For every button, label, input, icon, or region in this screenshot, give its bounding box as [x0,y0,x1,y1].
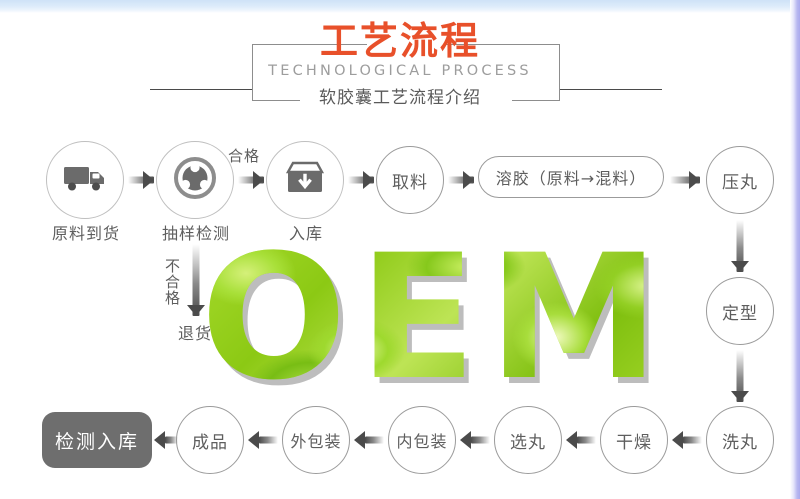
node-material-picking[interactable]: 取料 [376,146,444,214]
page-subtitle-cn: 软胶囊工艺流程介绍 [0,86,800,110]
process-flow-infographic: 工艺流程 TECHNOLOGICAL PROCESS 软胶囊工艺流程介绍 OEM… [0,0,800,499]
arrow-head [248,431,259,449]
arrow-pressing-to-shaping [731,220,749,272]
node-warehouse-in[interactable] [266,141,344,219]
node-pill-pressing[interactable]: 压丸 [706,146,774,214]
arrow-head [460,431,471,449]
node-material-picking-label: 取料 [392,168,428,193]
label-raw-material-arrival: 原料到货 [40,220,132,244]
page-title: 工艺流程 [0,21,800,61]
label-return-goods: 退货 [165,320,225,344]
header: 工艺流程 TECHNOLOGICAL PROCESS 软胶囊工艺流程介绍 [0,18,800,110]
arrow-tail [365,437,384,444]
arrow-tail [165,437,178,444]
page-subtitle-en: TECHNOLOGICAL PROCESS [0,62,800,80]
node-outer-packaging-label: 外包装 [290,428,341,452]
inbox-down-icon [285,160,325,201]
node-shaping-label: 定型 [722,299,758,324]
arrow-tail [471,437,490,444]
oem-watermark-text: OEM [186,238,686,398]
arrow-shaping-to-washing [731,350,749,402]
node-pill-sorting-label: 选丸 [510,428,546,453]
node-pill-washing[interactable]: 洗丸 [706,406,774,474]
arrow-head [363,171,374,189]
arrow-inspection-to-warehouse [238,171,264,189]
node-pill-washing-label: 洗丸 [722,428,758,453]
inspection-icon [172,155,218,206]
node-outer-packaging[interactable]: 外包装 [282,406,350,474]
arrow-product-to-final-inspection [154,431,178,449]
arrow-head [463,171,474,189]
arrow-picking-to-gel [448,171,474,189]
arrow-head [354,431,365,449]
node-final-inspection-warehousing[interactable]: 检测入库 [42,412,152,468]
arrow-head [689,171,700,189]
node-inner-packaging-label: 内包装 [396,428,447,452]
node-finished-product[interactable]: 成品 [176,406,244,474]
node-gel-dissolving-label: 溶胶（原料→混料） [496,165,646,189]
node-pill-sorting[interactable]: 选丸 [494,406,562,474]
arrow-tail [259,437,278,444]
label-warehouse-in: 入库 [272,220,340,244]
oem-watermark: OEM OEM [186,238,686,398]
arrow-inner-to-outer-packaging [354,431,384,449]
node-inner-packaging[interactable]: 内包装 [388,406,456,474]
label-pass-qualified: 合格 [228,145,260,166]
arrow-warehouse-to-picking [348,171,374,189]
arrow-head [672,431,683,449]
node-sampling-inspection[interactable] [156,141,234,219]
arrow-head [253,171,264,189]
arrow-head [143,171,154,189]
arrow-arrival-to-inspection [128,171,154,189]
arrow-drying-to-pill-sorting [566,431,596,449]
arrow-outer-to-finished-product [248,431,278,449]
node-shaping[interactable]: 定型 [706,277,774,345]
arrow-head [731,261,749,272]
arrow-head [187,305,205,316]
node-raw-material-arrival[interactable] [46,141,124,219]
node-pill-pressing-label: 压丸 [722,168,758,193]
node-drying[interactable]: 干燥 [600,406,668,474]
node-drying-label: 干燥 [616,428,652,453]
arrow-tail [683,437,702,444]
arrow-head [731,391,749,402]
arrow-gel-to-pressing [670,171,700,189]
arrow-tail [577,437,596,444]
label-unqualified: 不合格 [162,258,183,306]
arrow-sorting-to-inner-packaging [460,431,490,449]
top-decorative-band [0,0,800,13]
node-final-inspection-label: 检测入库 [55,427,139,454]
arrow-head [566,431,577,449]
node-finished-product-label: 成品 [192,428,228,453]
arrow-inspection-to-return [187,244,205,316]
oem-watermark-shadow: OEM [191,244,691,404]
node-gel-dissolving[interactable]: 溶胶（原料→混料） [478,156,664,198]
arrow-washing-to-drying [672,431,702,449]
label-sampling-inspection: 抽样检测 [150,220,242,244]
arrow-head [154,431,165,449]
truck-icon [63,164,107,197]
